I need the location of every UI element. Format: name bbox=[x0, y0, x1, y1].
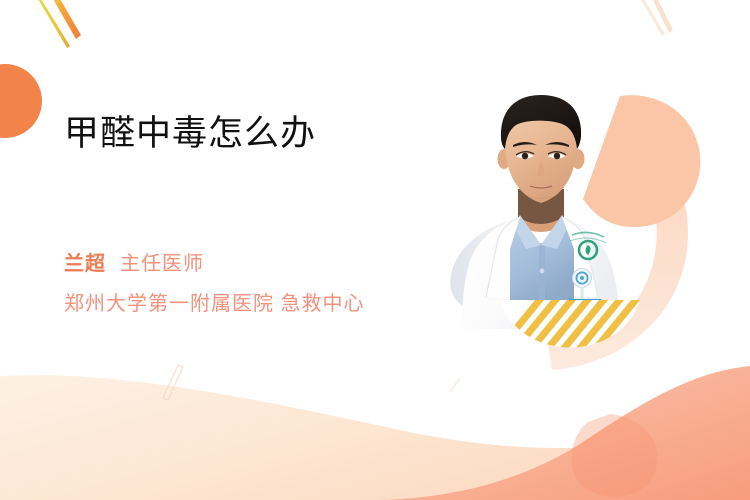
coral-lobe bbox=[572, 414, 658, 497]
doctor-affiliation: 郑州大学第一附属医院 急救中心 bbox=[64, 294, 365, 314]
page-title: 甲醛中毒怎么办 bbox=[64, 112, 464, 156]
doctor-name: 兰超 bbox=[64, 253, 106, 275]
pale-diagonal-stripe-b bbox=[639, 0, 665, 36]
shirt-button bbox=[540, 269, 545, 274]
text-block: 甲醛中毒怎么办 兰超主任医师 郑州大学第一附属医院 急救中心 bbox=[64, 112, 464, 156]
credential-row: 兰超主任医师 bbox=[64, 254, 204, 274]
bottom-wave-light bbox=[0, 375, 750, 500]
pale-diagonal-stripe-a bbox=[651, 0, 673, 33]
top-left-stripe-group bbox=[35, 0, 81, 48]
doctor-title: 主任医师 bbox=[120, 253, 204, 275]
bottom-wave-coral bbox=[380, 366, 750, 500]
doctor-info-card: 甲醛中毒怎么办 兰超主任医师 郑州大学第一附属医院 急救中心 bbox=[0, 0, 750, 500]
doctor-photo bbox=[440, 85, 650, 360]
yellow-diagonal-stripe bbox=[35, 0, 70, 48]
orange-diagonal-stripe bbox=[49, 0, 81, 39]
thin-outline-bar bbox=[163, 365, 183, 400]
thin-outline-bar-secondary bbox=[450, 378, 460, 392]
top-right-pale-stripe-group bbox=[639, 0, 673, 36]
orange-circle bbox=[0, 64, 42, 138]
